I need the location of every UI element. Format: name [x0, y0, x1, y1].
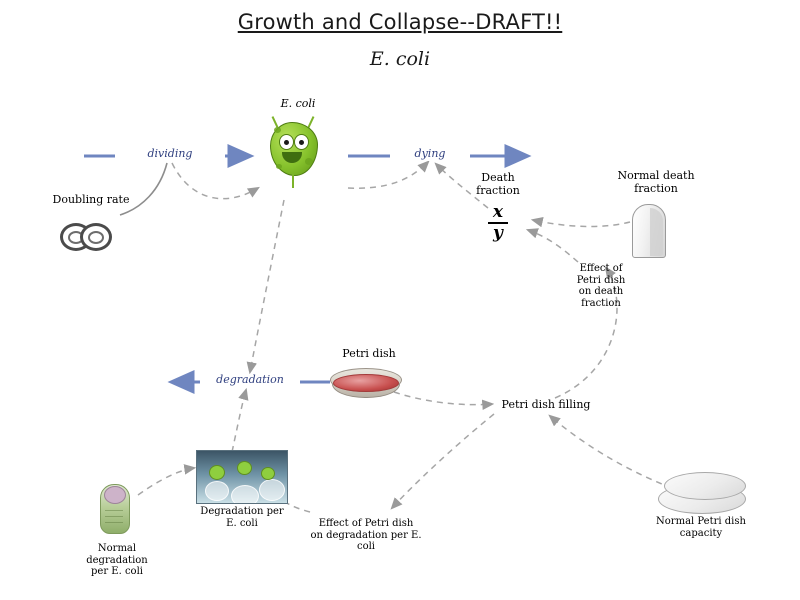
death-fraction-denominator: y	[478, 225, 518, 242]
diagram-canvas: Growth and Collapse--DRAFT!! E. coli E. …	[0, 0, 800, 600]
ecoli-spot-1	[274, 127, 281, 133]
link-ecoli-to-petri-dish	[250, 200, 284, 372]
ecoli-pupil-right	[299, 140, 304, 145]
link-dividing-to-ecoli	[172, 163, 258, 199]
degradation-per-ecoli-icon[interactable]	[196, 450, 288, 504]
link-deg-per-ecoli-to-degradation	[232, 390, 246, 452]
link-normal-degradation-to-deg-per-ecoli	[138, 468, 194, 495]
page-title: Growth and Collapse--DRAFT!!	[0, 10, 800, 34]
link-ecoli-to-dying	[348, 162, 428, 188]
degradation-bubble-2	[231, 485, 259, 504]
doubling-ring-right	[80, 223, 112, 251]
doubling-rate-icon[interactable]	[58, 215, 120, 253]
degradation-germ-2	[237, 461, 252, 475]
ecoli-flagellum-bottom	[292, 174, 294, 188]
ecoli-eye-right	[294, 134, 309, 150]
variable-label-normal-petri-dish-capacity: Normal Petri dish capacity	[636, 516, 766, 539]
variable-label-normal-degradation-per-ecoli: Normal degradation per E. coli	[62, 543, 172, 578]
capsule-line-2	[105, 516, 123, 517]
variable-label-doubling-rate: Doubling rate	[26, 194, 156, 207]
degradation-bubble-1	[205, 481, 229, 501]
stock-label-ecoli: E. coli	[238, 98, 358, 111]
ecoli-spot-3	[276, 164, 282, 169]
page-subtitle: E. coli	[0, 49, 800, 71]
petri-dish-agar	[333, 374, 399, 392]
capsule-line-3	[105, 522, 123, 523]
link-filling-to-effect-degradation	[392, 414, 494, 508]
tombstone-icon[interactable]	[632, 204, 670, 260]
capsule-line-1	[105, 510, 123, 511]
ecoli-eye-left	[279, 134, 294, 150]
flow-label-dividing: dividing	[115, 148, 225, 161]
variable-label-effect-petri-on-death-fraction: Effect of Petri dish on death fraction	[549, 263, 653, 309]
variable-label-degradation-per-ecoli: Degradation per E. coli	[186, 506, 298, 529]
ecoli-pupil-left	[284, 140, 289, 145]
variable-label-death-fraction: Death fraction	[453, 172, 543, 197]
normal-degradation-capsule-top	[104, 486, 126, 504]
flow-label-dying: dying	[390, 148, 470, 161]
variable-label-effect-petri-on-degradation: Effect of Petri dish on degradation per …	[300, 518, 432, 553]
link-normal-death-fraction-to-death-fraction	[533, 220, 630, 226]
variable-label-petri-dish: Petri dish	[313, 348, 425, 361]
death-fraction-value: x y	[478, 204, 518, 242]
flow-label-degradation: degradation	[200, 374, 300, 387]
ecoli-spot-2	[305, 158, 313, 165]
tombstone-shading	[650, 208, 663, 256]
degradation-image	[196, 450, 288, 504]
degradation-bubble-3	[259, 479, 285, 501]
petri-dish-icon[interactable]	[330, 368, 402, 400]
ecoli-flagellum-right	[308, 116, 315, 128]
degradation-germ-1	[209, 465, 225, 480]
normal-degradation-icon[interactable]	[100, 484, 132, 536]
ecoli-icon[interactable]	[262, 112, 324, 190]
link-petri-dish-to-filling	[394, 392, 492, 405]
degradation-germ-3	[261, 467, 275, 480]
normal-petri-dish-capacity-icon[interactable]	[654, 470, 750, 514]
link-effect-death-to-death-fraction	[528, 230, 578, 262]
doubling-ring-right-inner	[88, 231, 104, 244]
variable-label-normal-death-fraction: Normal death fraction	[596, 170, 716, 195]
capacity-dish-top	[664, 472, 746, 500]
link-doubling-rate-to-dividing	[120, 163, 167, 215]
variable-label-petri-dish-filling: Petri dish filling	[486, 399, 606, 412]
death-fraction-numerator: x	[478, 204, 518, 221]
